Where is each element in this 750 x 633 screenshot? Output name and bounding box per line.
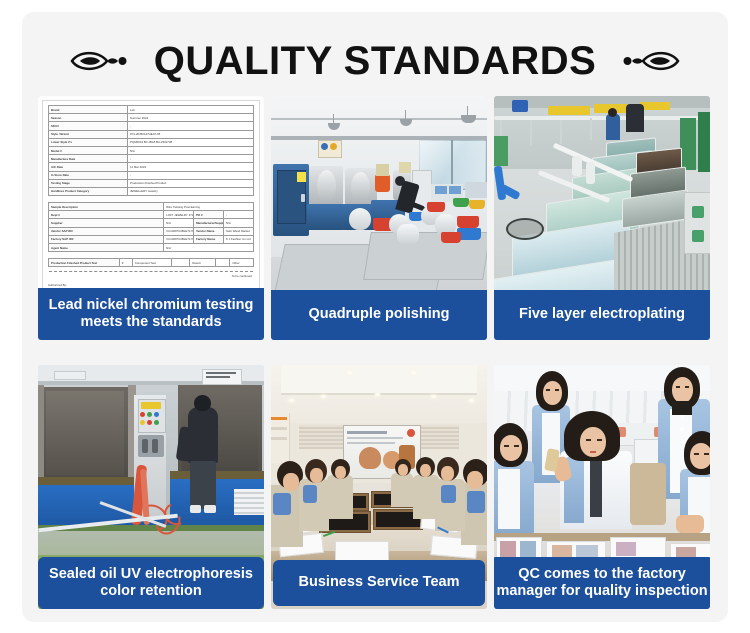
card-caption: QC comes to the factory manager for qual… xyxy=(494,557,710,609)
card-five-layer-electroplating[interactable]: Five layer electroplating xyxy=(494,96,710,340)
page-root: QUALITY STANDARDS BrandLofi SeasonSummer… xyxy=(0,0,750,633)
card-caption: Quadruple polishing xyxy=(271,290,487,340)
report-main-table: BrandLofi SeasonSummer 2024 SKU#- Style … xyxy=(48,105,254,196)
page-header: QUALITY STANDARDS xyxy=(22,30,728,92)
page-title: QUALITY STANDARDS xyxy=(154,41,597,81)
card-sealed-oil-uv-electrophoresis[interactable]: Sealed oil UV electrophoresis color rete… xyxy=(38,365,264,609)
report-sample-table: Sample DescriptionWire Twisting Post Ear… xyxy=(48,202,254,252)
leaf-flourish-right-icon xyxy=(620,46,680,76)
card-quadruple-polishing[interactable]: Quadruple polishing xyxy=(271,96,487,340)
card-qc-factory-inspection[interactable]: QC comes to the factory manager for qual… xyxy=(494,365,710,609)
card-caption: Lead nickel chromium testing meets the s… xyxy=(38,288,264,340)
card-caption: Five layer electroplating xyxy=(494,290,710,340)
quality-standards-grid: BrandLofi SeasonSummer 2024 SKU#- Style … xyxy=(38,96,710,610)
card-business-service-team[interactable]: Business Service Team xyxy=(271,365,487,609)
card-lead-nickel-chromium-testing[interactable]: BrandLofi SeasonSummer 2024 SKU#- Style … xyxy=(38,96,264,340)
leaf-flourish-left-icon xyxy=(70,46,130,76)
report-footer-table: Production Finished Product Test # Compo… xyxy=(48,258,254,267)
card-caption: Business Service Team xyxy=(273,560,485,606)
card-caption: Sealed oil UV electrophoresis color rete… xyxy=(38,557,264,609)
continued-note: To be continued xyxy=(48,274,254,278)
